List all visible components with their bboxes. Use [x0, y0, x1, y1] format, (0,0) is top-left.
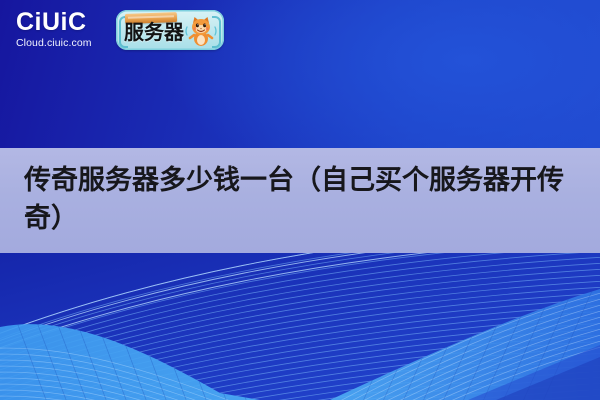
brand-logo[interactable]: CiUiC Cloud.ciuic.com	[16, 9, 116, 49]
orange-cat-mascot-icon	[184, 14, 218, 48]
brand-wordmark: CiUiC	[16, 9, 116, 35]
server-badge: 服务器	[116, 10, 224, 50]
banner-image: CiUiC Cloud.ciuic.com 服务器	[0, 0, 600, 400]
brand-domain: Cloud.ciuic.com	[16, 37, 116, 49]
title-band: 传奇服务器多少钱一台（自己买个服务器开传奇）	[0, 148, 600, 253]
wave-graphic	[0, 253, 600, 400]
wireframe-wave-svg	[0, 253, 600, 400]
server-badge-label: 服务器	[124, 21, 184, 45]
page-title: 传奇服务器多少钱一台（自己买个服务器开传奇）	[24, 162, 580, 238]
